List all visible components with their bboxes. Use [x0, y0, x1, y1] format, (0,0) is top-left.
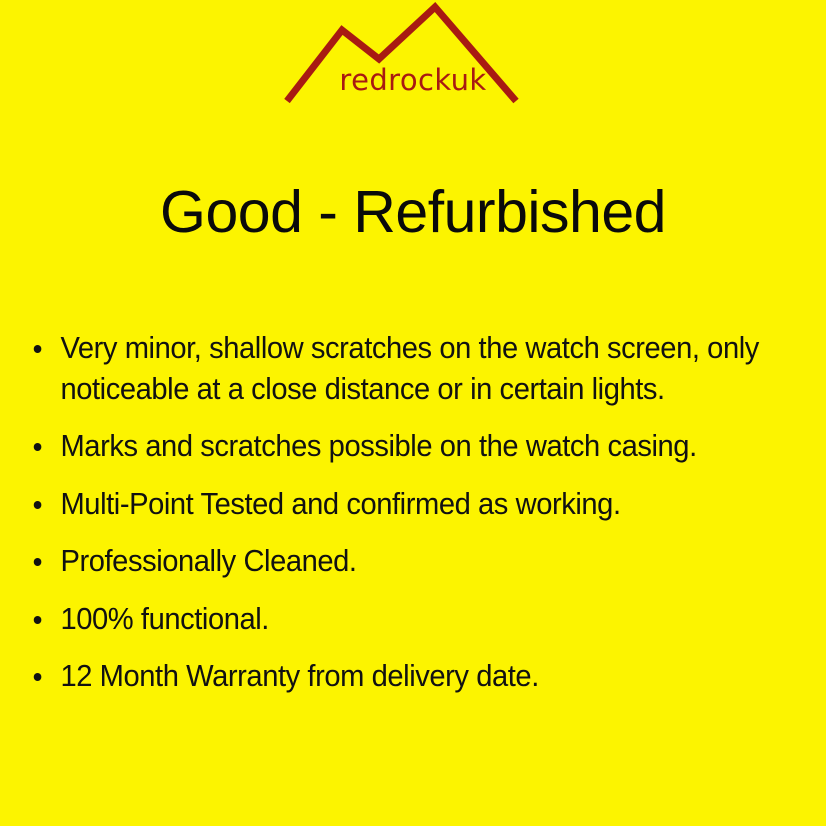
bullet-point-icon — [34, 616, 42, 624]
condition-list: Very minor, shallow scratches on the wat… — [28, 328, 798, 697]
list-item: Marks and scratches possible on the watc… — [28, 426, 763, 467]
list-item-label: Multi-Point Tested and confirmed as work… — [60, 484, 763, 525]
bullet-point-icon — [34, 345, 42, 353]
list-item: Professionally Cleaned. — [28, 541, 763, 582]
list-item-label: 100% functional. — [60, 599, 763, 640]
list-item-label: 12 Month Warranty from delivery date. — [60, 656, 763, 697]
list-item-label: Very minor, shallow scratches on the wat… — [60, 328, 763, 409]
page-title: Good - Refurbished — [0, 176, 826, 248]
bullet-point-icon — [34, 501, 42, 509]
bullet-point-icon — [34, 443, 42, 451]
list-item-label: Marks and scratches possible on the watc… — [60, 426, 763, 467]
brand-logo: redrockuk — [0, 0, 826, 112]
list-item: Multi-Point Tested and confirmed as work… — [28, 484, 763, 525]
bullet-point-icon — [34, 558, 42, 566]
list-item: 100% functional. — [28, 599, 763, 640]
list-item: 12 Month Warranty from delivery date. — [28, 656, 763, 697]
condition-info-card: redrockuk Good - Refurbished Very minor,… — [0, 0, 826, 826]
brand-wordmark: redrockuk — [0, 63, 826, 97]
list-item-label: Professionally Cleaned. — [60, 541, 763, 582]
list-item: Very minor, shallow scratches on the wat… — [28, 328, 763, 409]
bullet-point-icon — [34, 673, 42, 681]
